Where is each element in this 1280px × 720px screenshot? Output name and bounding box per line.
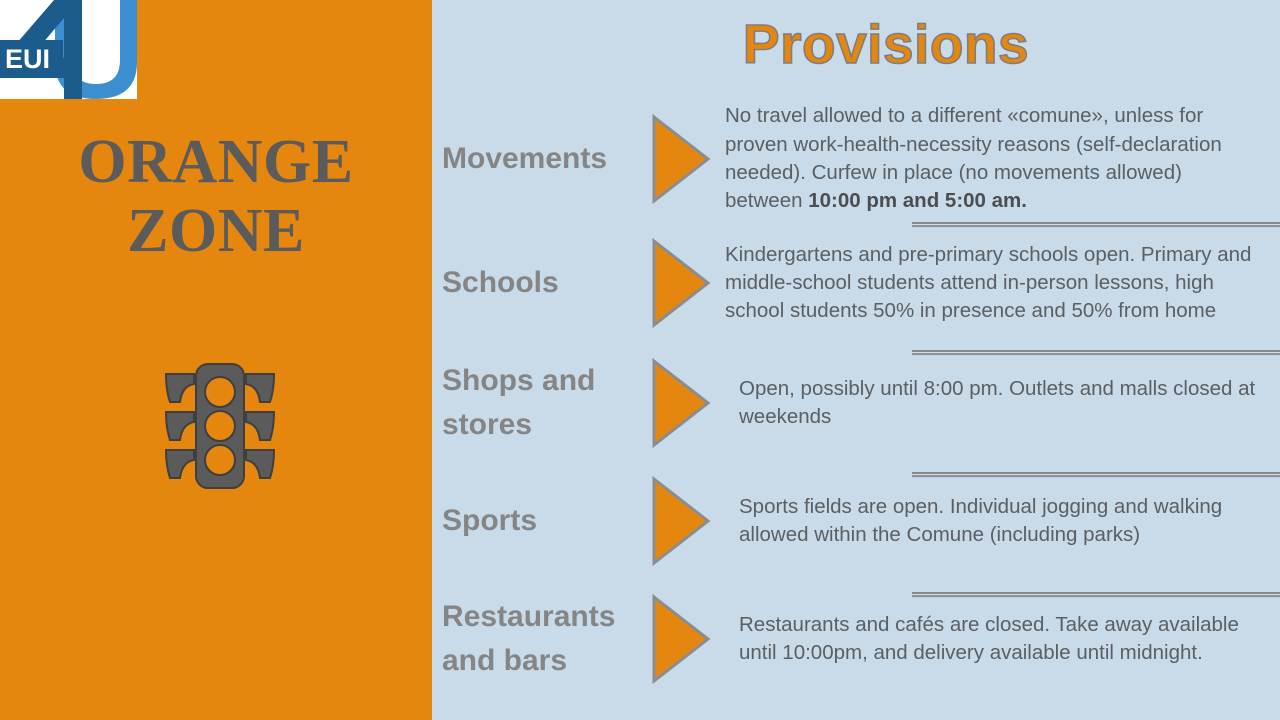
left-panel: EUI ORANGE ZONE: [0, 0, 432, 720]
right-panel: Provisions Movements No travel allowed t…: [432, 0, 1280, 720]
provision-text-plain: Restaurants and cafés are closed. Take a…: [739, 613, 1239, 664]
play-triangle-icon: [637, 475, 725, 567]
provision-row: Sports Sports fields are open. Individua…: [432, 462, 1280, 580]
play-triangle-icon: [637, 237, 725, 329]
provision-text: Sports fields are open. Individual joggi…: [725, 493, 1280, 550]
provision-row: Movements No travel allowed to a differe…: [432, 96, 1280, 222]
provision-label: Restaurants and bars: [432, 595, 637, 684]
provision-label: Schools: [432, 261, 637, 305]
row-divider: [912, 222, 1280, 228]
provision-text-plain: Kindergartens and pre-primary schools op…: [725, 243, 1251, 323]
row-divider: [912, 472, 1280, 478]
provision-text: Restaurants and cafés are closed. Take a…: [725, 611, 1280, 668]
slide-root: EUI ORANGE ZONE: [0, 0, 1280, 720]
provision-row: Schools Kindergartens and pre-primary sc…: [432, 222, 1280, 344]
eui4u-logo[interactable]: EUI: [0, 0, 137, 99]
provision-text: Kindergartens and pre-primary schools op…: [725, 241, 1280, 326]
play-triangle-icon: [637, 113, 725, 205]
provision-label: Movements: [432, 137, 637, 181]
provision-text-plain: Sports fields are open. Individual joggi…: [739, 495, 1222, 546]
play-triangle-icon: [637, 593, 725, 685]
provision-text: Open, possibly until 8:00 pm. Outlets an…: [725, 375, 1280, 432]
zone-title: ORANGE ZONE: [0, 128, 432, 267]
zone-title-line1: ORANGE: [78, 128, 353, 196]
row-divider: [912, 350, 1280, 356]
logo-eui-text: EUI: [5, 44, 50, 74]
provision-label: Shops and stores: [432, 359, 637, 448]
eui4u-logo-svg: EUI: [0, 0, 137, 99]
zone-title-line2: ZONE: [0, 197, 432, 266]
traffic-light-icon: [160, 360, 280, 490]
row-divider: [912, 592, 1280, 598]
provision-label: Sports: [432, 499, 637, 543]
provision-row: Shops and stores Open, possibly until 8:…: [432, 344, 1280, 462]
provision-text-bold: 10:00 pm and 5:00 am.: [808, 189, 1027, 212]
provision-text: No travel allowed to a different «comune…: [725, 102, 1280, 215]
play-triangle-icon: [637, 357, 725, 449]
page-title: Provisions: [432, 16, 1280, 74]
provisions-list: Movements No travel allowed to a differe…: [432, 96, 1280, 698]
provision-text-plain: Open, possibly until 8:00 pm. Outlets an…: [739, 377, 1255, 428]
